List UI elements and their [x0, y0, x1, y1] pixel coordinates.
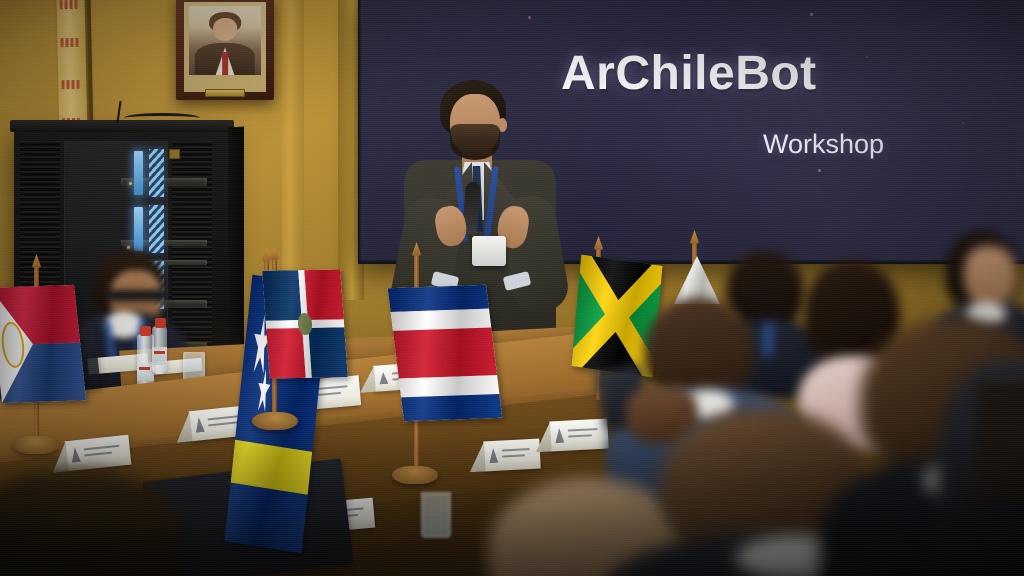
conference-photo-scene: ArChileBot Workshop [0, 0, 1024, 576]
organization-logo-icon [194, 417, 205, 433]
screen-left-edge [358, 0, 362, 264]
portrait-mat [184, 2, 266, 92]
portrait-photo [189, 6, 261, 75]
rack-brand-badge [169, 149, 180, 159]
presenter-badge [472, 236, 506, 266]
wall-pilaster [282, 0, 304, 280]
portrait-face [213, 18, 237, 41]
rack-led-stripe [149, 205, 164, 253]
name-tent-card [483, 439, 540, 472]
rack-led-stripe [149, 149, 164, 197]
drinking-glass [421, 492, 451, 538]
portrait-tie [222, 52, 228, 75]
water-bottle [152, 326, 167, 374]
framed-portrait [176, 0, 274, 100]
rack-top-panel [10, 120, 234, 132]
chair [976, 380, 1024, 500]
slide-title: ArChileBot [561, 46, 817, 101]
organization-logo-icon [489, 448, 499, 463]
flag-cloth [0, 285, 86, 403]
presenter-beard [450, 124, 500, 160]
rack-led-indicator [134, 151, 143, 195]
flag-cloth [262, 269, 348, 378]
rack-cable [124, 113, 200, 123]
organization-logo-icon [379, 372, 389, 385]
slide-subtitle: Workshop [763, 129, 884, 160]
organization-logo-icon [555, 428, 565, 443]
flag-cloth [388, 285, 503, 421]
eyeglasses-icon [110, 290, 168, 301]
organization-logo-icon [70, 447, 81, 463]
portrait-nameplate [205, 89, 245, 97]
audience-foreground-far-left [0, 470, 170, 576]
rack-led-indicator [134, 207, 143, 251]
